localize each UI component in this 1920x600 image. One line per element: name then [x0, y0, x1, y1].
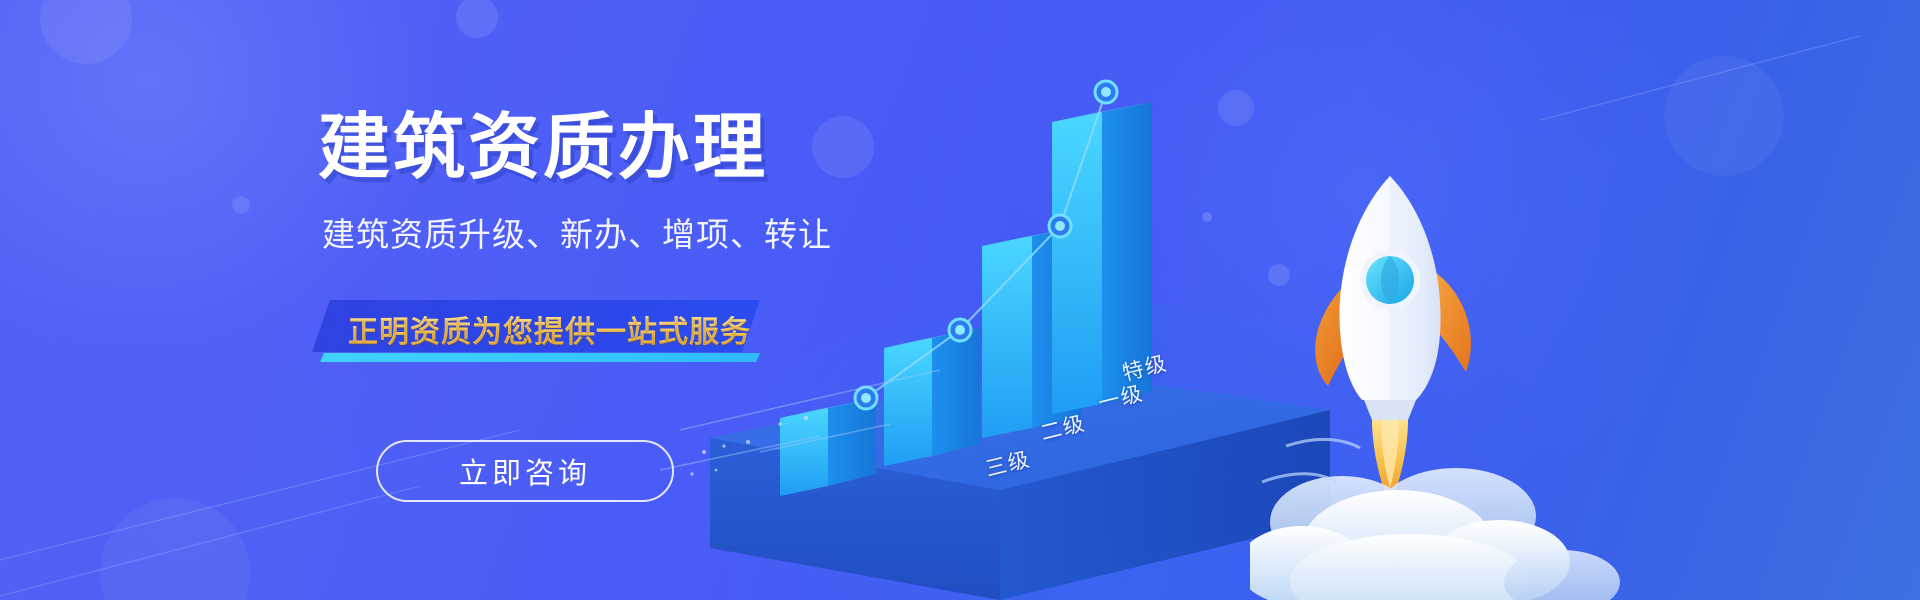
consult-now-button[interactable]: 立即咨询	[376, 440, 674, 502]
page-subtitle: 建筑资质升级、新办、增项、转让	[322, 208, 832, 256]
page-title: 建筑资质办理	[318, 88, 768, 193]
ribbon-underline	[320, 353, 760, 362]
highlight-ribbon: 正明资质为您提供一站式服务	[312, 300, 772, 360]
promo-banner: 三级 二级 一级 特级	[0, 0, 1920, 600]
banner-copy: 建筑资质办理 建筑资质升级、新办、增项、转让 正明资质为您提供一站式服务 立即咨…	[0, 0, 860, 600]
ribbon-label: 正明资质为您提供一站式服务	[348, 307, 751, 351]
